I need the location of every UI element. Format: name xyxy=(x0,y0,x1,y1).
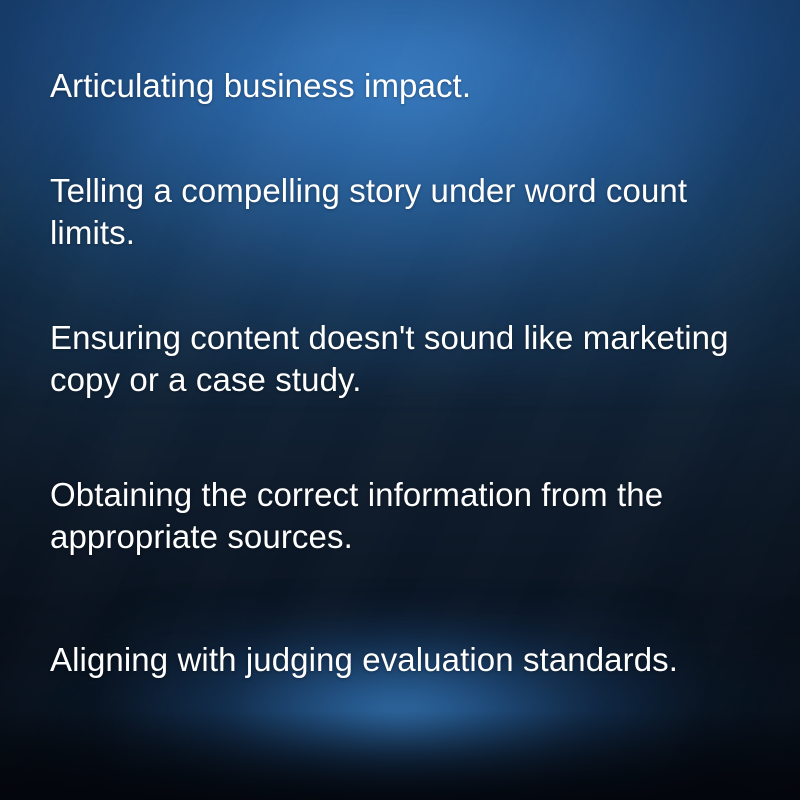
text-block-5: Aligning with judging evaluation standar… xyxy=(50,639,750,681)
text-block-2: Telling a compelling story under word co… xyxy=(50,170,750,253)
text-block-1: Articulating business impact. xyxy=(50,65,750,107)
text-block-4: Obtaining the correct information from t… xyxy=(50,474,750,557)
slide-content: Articulating business impact. Telling a … xyxy=(0,0,800,800)
text-block-3: Ensuring content doesn't sound like mark… xyxy=(50,317,750,400)
slide-canvas: Articulating business impact. Telling a … xyxy=(0,0,800,800)
